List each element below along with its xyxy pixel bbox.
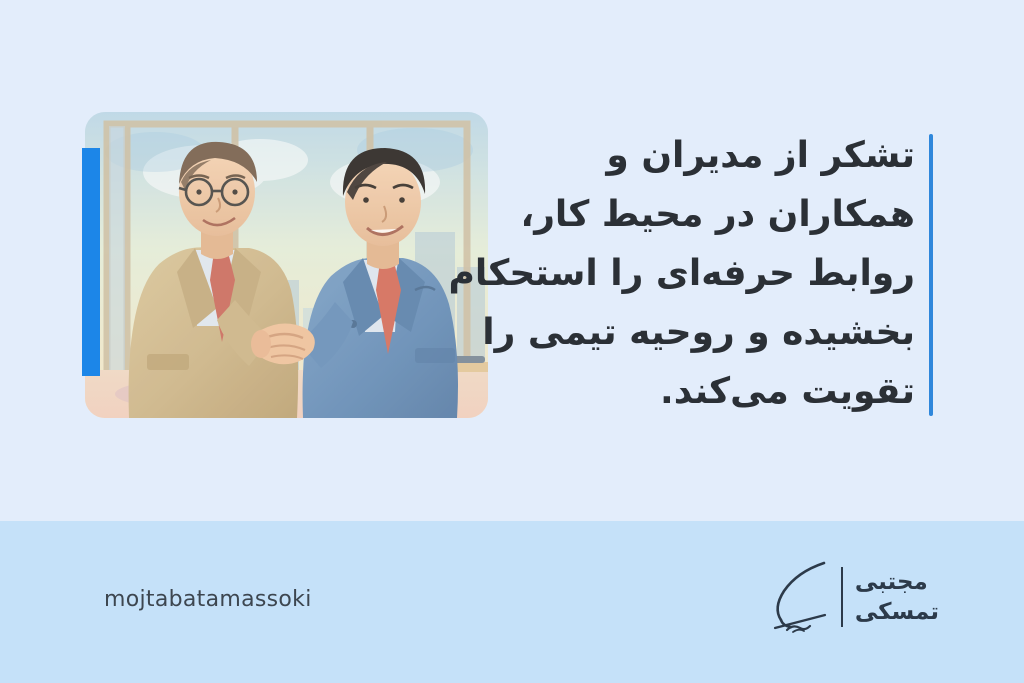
quote-line-1: تشکر از مدیران و	[488, 126, 915, 185]
quote-line-3: روابط حرفه‌ای را استحکام	[488, 244, 915, 303]
brand-name-line-1: مجتبی	[855, 568, 928, 596]
image-accent-bar	[82, 148, 100, 376]
quote-line-4: بخشیده و روحیه تیمی را	[488, 303, 915, 362]
poster-canvas: تشکر از مدیران و همکاران در محیط کار، رو…	[0, 0, 1024, 683]
quote-accent-rule	[929, 134, 933, 416]
quote-line-2: همکاران در محیط کار،	[488, 185, 915, 244]
brand-lockup: مجتبی تمسکی	[767, 558, 939, 636]
calligraphy-pen-monogram-icon	[767, 558, 829, 636]
quote-text: تشکر از مدیران و همکاران در محیط کار، رو…	[488, 126, 933, 421]
handshake-illustration	[85, 112, 488, 418]
social-handle: mojtabatamassoki	[104, 587, 312, 612]
quote-block: تشکر از مدیران و همکاران در محیط کار، رو…	[488, 126, 933, 421]
quote-line-5: تقویت می‌کند.	[488, 362, 915, 421]
illustration-card	[85, 112, 488, 418]
brand-name-line-2: تمسکی	[855, 598, 939, 626]
brand-divider	[841, 567, 843, 627]
brand-name: مجتبی تمسکی	[855, 568, 939, 626]
